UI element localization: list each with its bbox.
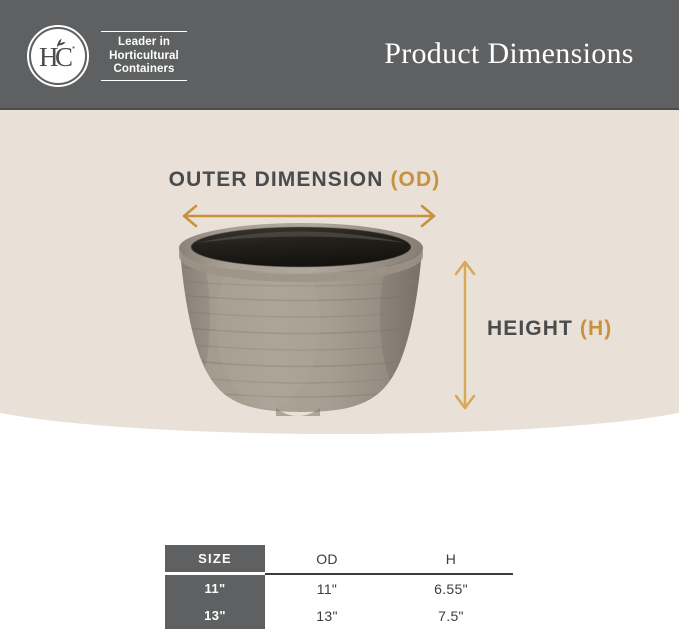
column-header-h: H	[389, 545, 513, 572]
outer-dimension-abbr: (OD)	[390, 168, 440, 191]
cell-od: 13"	[265, 602, 389, 629]
hc-logo-icon: H C	[27, 25, 89, 87]
tagline-line-1: Leader in	[101, 36, 187, 50]
outer-dimension-text: OUTER DIMENSION	[169, 168, 384, 191]
cell-h: 6.55"	[389, 575, 513, 602]
height-text: HEIGHT	[487, 317, 573, 340]
tagline-line-2: Horticultural	[101, 50, 187, 64]
column-header-size: SIZE	[165, 545, 265, 572]
table-header-rule	[265, 573, 513, 575]
brand-logo: H C Leader in Horticultural Containers	[27, 18, 187, 94]
height-abbr: (H)	[580, 317, 612, 340]
cell-od: 11"	[265, 575, 389, 602]
cell-size: 13"	[165, 602, 265, 629]
planter-pot-illustration	[168, 222, 434, 420]
table-row: 11" 11" 6.55"	[165, 575, 515, 602]
height-label: HEIGHT (H)	[487, 317, 612, 341]
hc-monogram-icon: H C	[27, 25, 89, 87]
cell-size: 11"	[165, 575, 265, 602]
page-title: Product Dimensions	[364, 36, 654, 72]
product-dimensions-infographic: H C Leader in Horticultural Containers P…	[0, 0, 679, 636]
header-bar: H C Leader in Horticultural Containers P…	[0, 0, 679, 110]
height-arrow-icon	[452, 254, 478, 416]
spec-table: SIZE OD H 11" 11" 6.55" 13" 13" 7.5"	[165, 545, 515, 629]
brand-tagline: Leader in Horticultural Containers	[101, 31, 187, 81]
tagline-line-3: Containers	[101, 63, 187, 77]
cell-h: 7.5"	[389, 602, 513, 629]
table-row: 13" 13" 7.5"	[165, 602, 515, 629]
column-header-od: OD	[265, 545, 389, 572]
outer-dimension-label: OUTER DIMENSION (OD)	[0, 168, 609, 192]
table-header-row: SIZE OD H	[165, 545, 515, 572]
